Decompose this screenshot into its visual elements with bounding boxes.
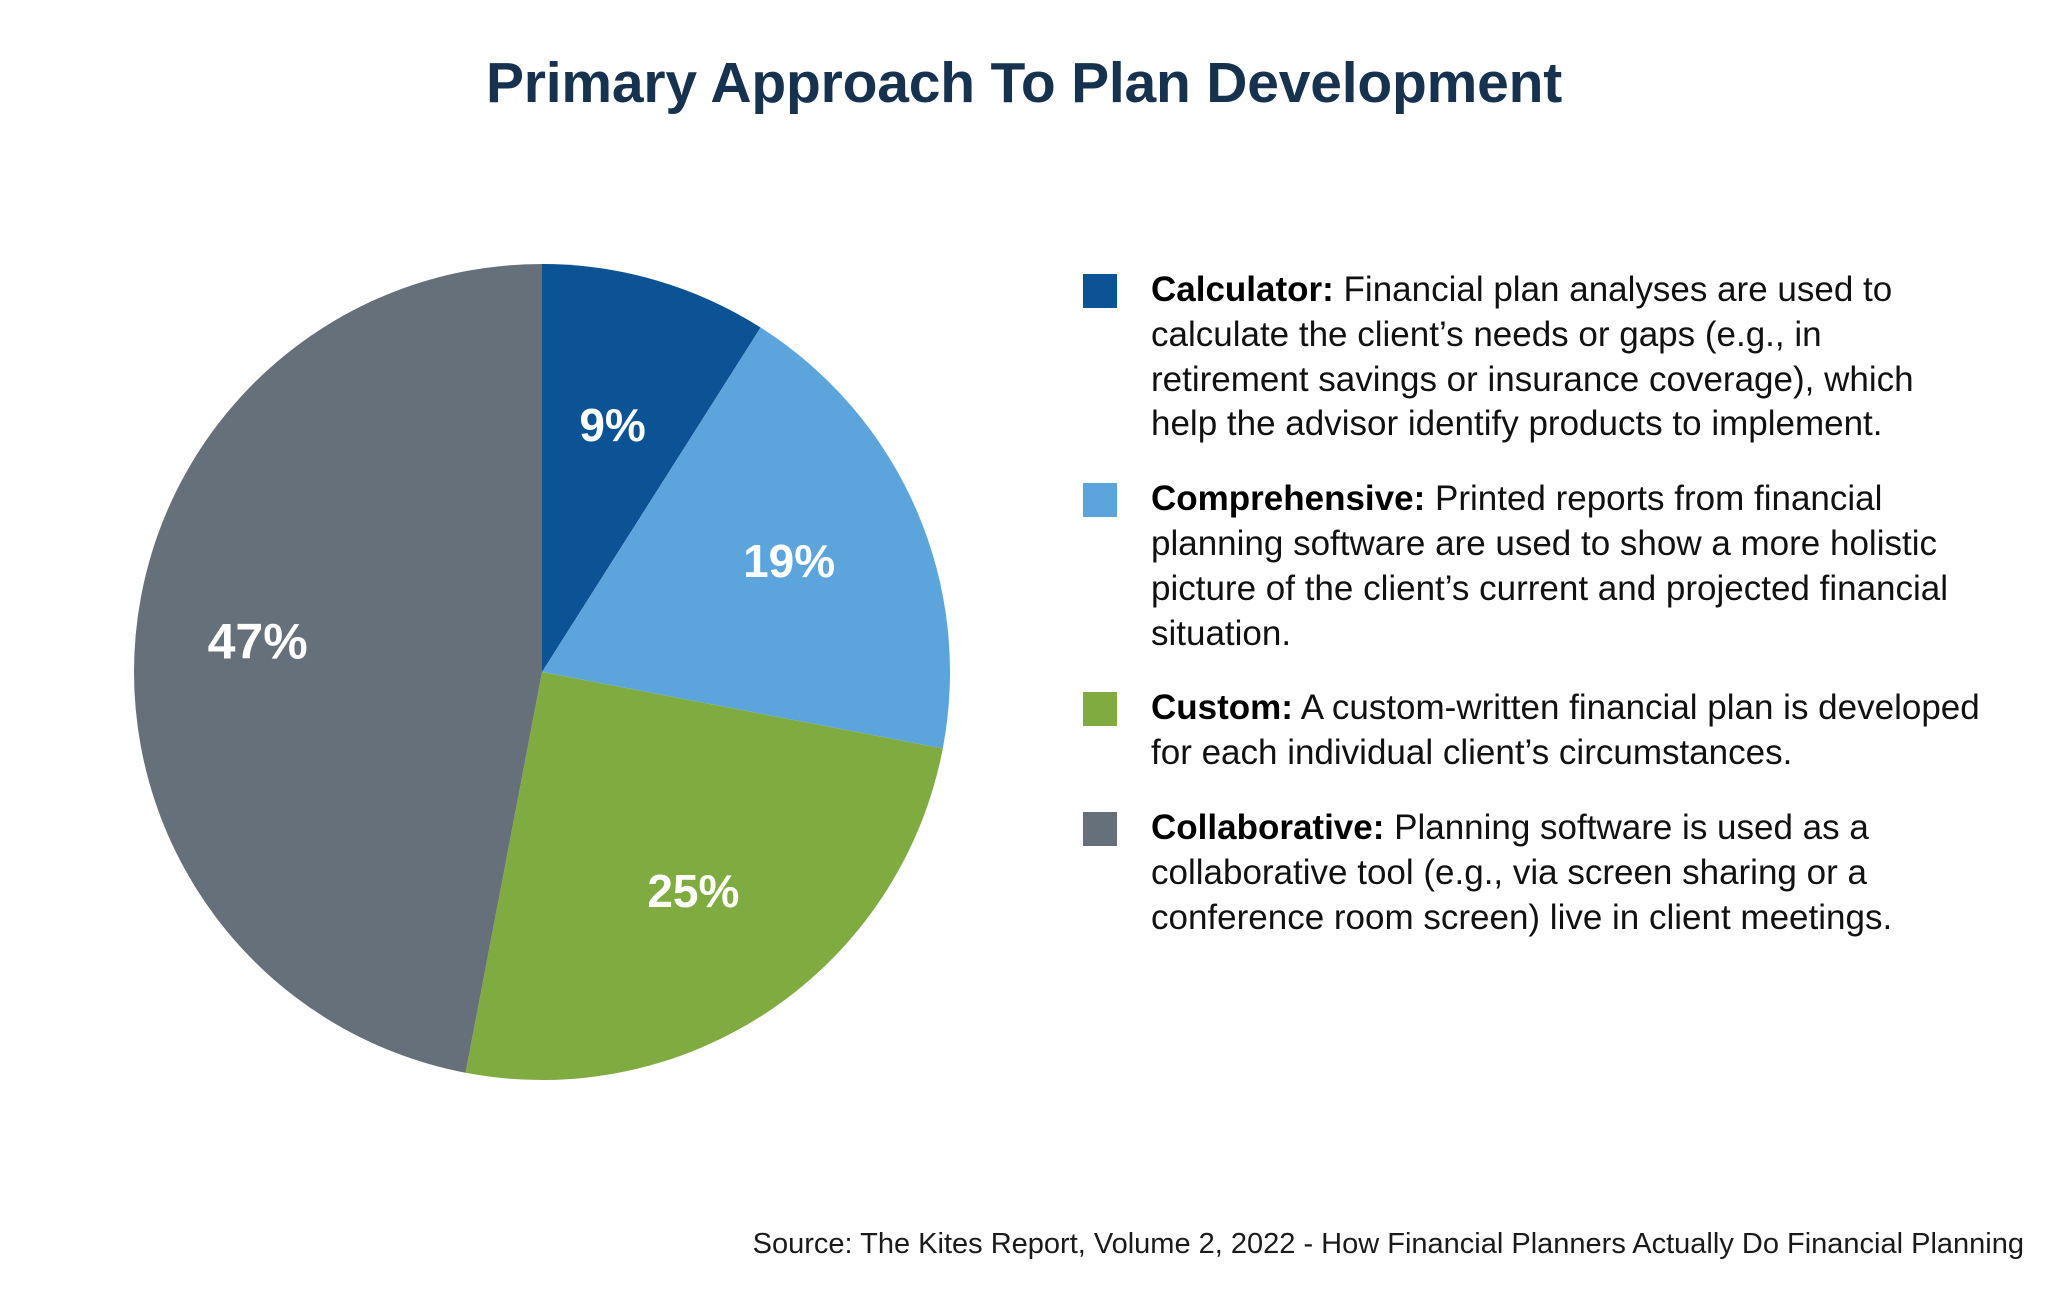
legend-text-custom: Custom: A custom-written financial plan … xyxy=(1151,686,1981,776)
legend-label-custom: Custom: xyxy=(1151,688,1293,727)
legend-item-custom[interactable]: Custom: A custom-written financial plan … xyxy=(1083,686,1983,776)
legend-item-calculator[interactable]: Calculator: Financial plan analyses are … xyxy=(1083,268,1983,447)
pie-slice-value-comprehensive: 19% xyxy=(743,535,835,587)
legend: Calculator: Financial plan analyses are … xyxy=(1083,268,1983,940)
legend-label-calculator: Calculator: xyxy=(1151,270,1334,309)
legend-item-comprehensive[interactable]: Comprehensive: Printed reports from fina… xyxy=(1083,477,1983,656)
pie-slice-value-collaborative: 47% xyxy=(208,613,308,669)
legend-swatch-comprehensive xyxy=(1083,483,1117,517)
legend-label-collaborative: Collaborative: xyxy=(1151,808,1384,847)
legend-swatch-calculator xyxy=(1083,274,1117,308)
legend-item-collaborative[interactable]: Collaborative: Planning software is used… xyxy=(1083,806,1983,940)
pie-slice-value-custom: 25% xyxy=(647,865,739,917)
pie-chart: 9%19%25%47% xyxy=(134,264,950,1080)
legend-label-comprehensive: Comprehensive: xyxy=(1151,479,1425,518)
pie-chart-svg: 9%19%25%47% xyxy=(134,264,950,1080)
pie-slice-collaborative[interactable] xyxy=(134,264,542,1073)
page-title: Primary Approach To Plan Development xyxy=(0,50,2048,116)
legend-text-comprehensive: Comprehensive: Printed reports from fina… xyxy=(1151,477,1981,656)
legend-swatch-collaborative xyxy=(1083,812,1117,846)
pie-slices xyxy=(134,264,950,1080)
source-caption: Source: The Kites Report, Volume 2, 2022… xyxy=(753,1228,2024,1261)
legend-text-collaborative: Collaborative: Planning software is used… xyxy=(1151,806,1981,940)
legend-text-calculator: Calculator: Financial plan analyses are … xyxy=(1151,268,1981,447)
pie-slice-value-calculator: 9% xyxy=(579,399,645,451)
legend-swatch-custom xyxy=(1083,692,1117,726)
